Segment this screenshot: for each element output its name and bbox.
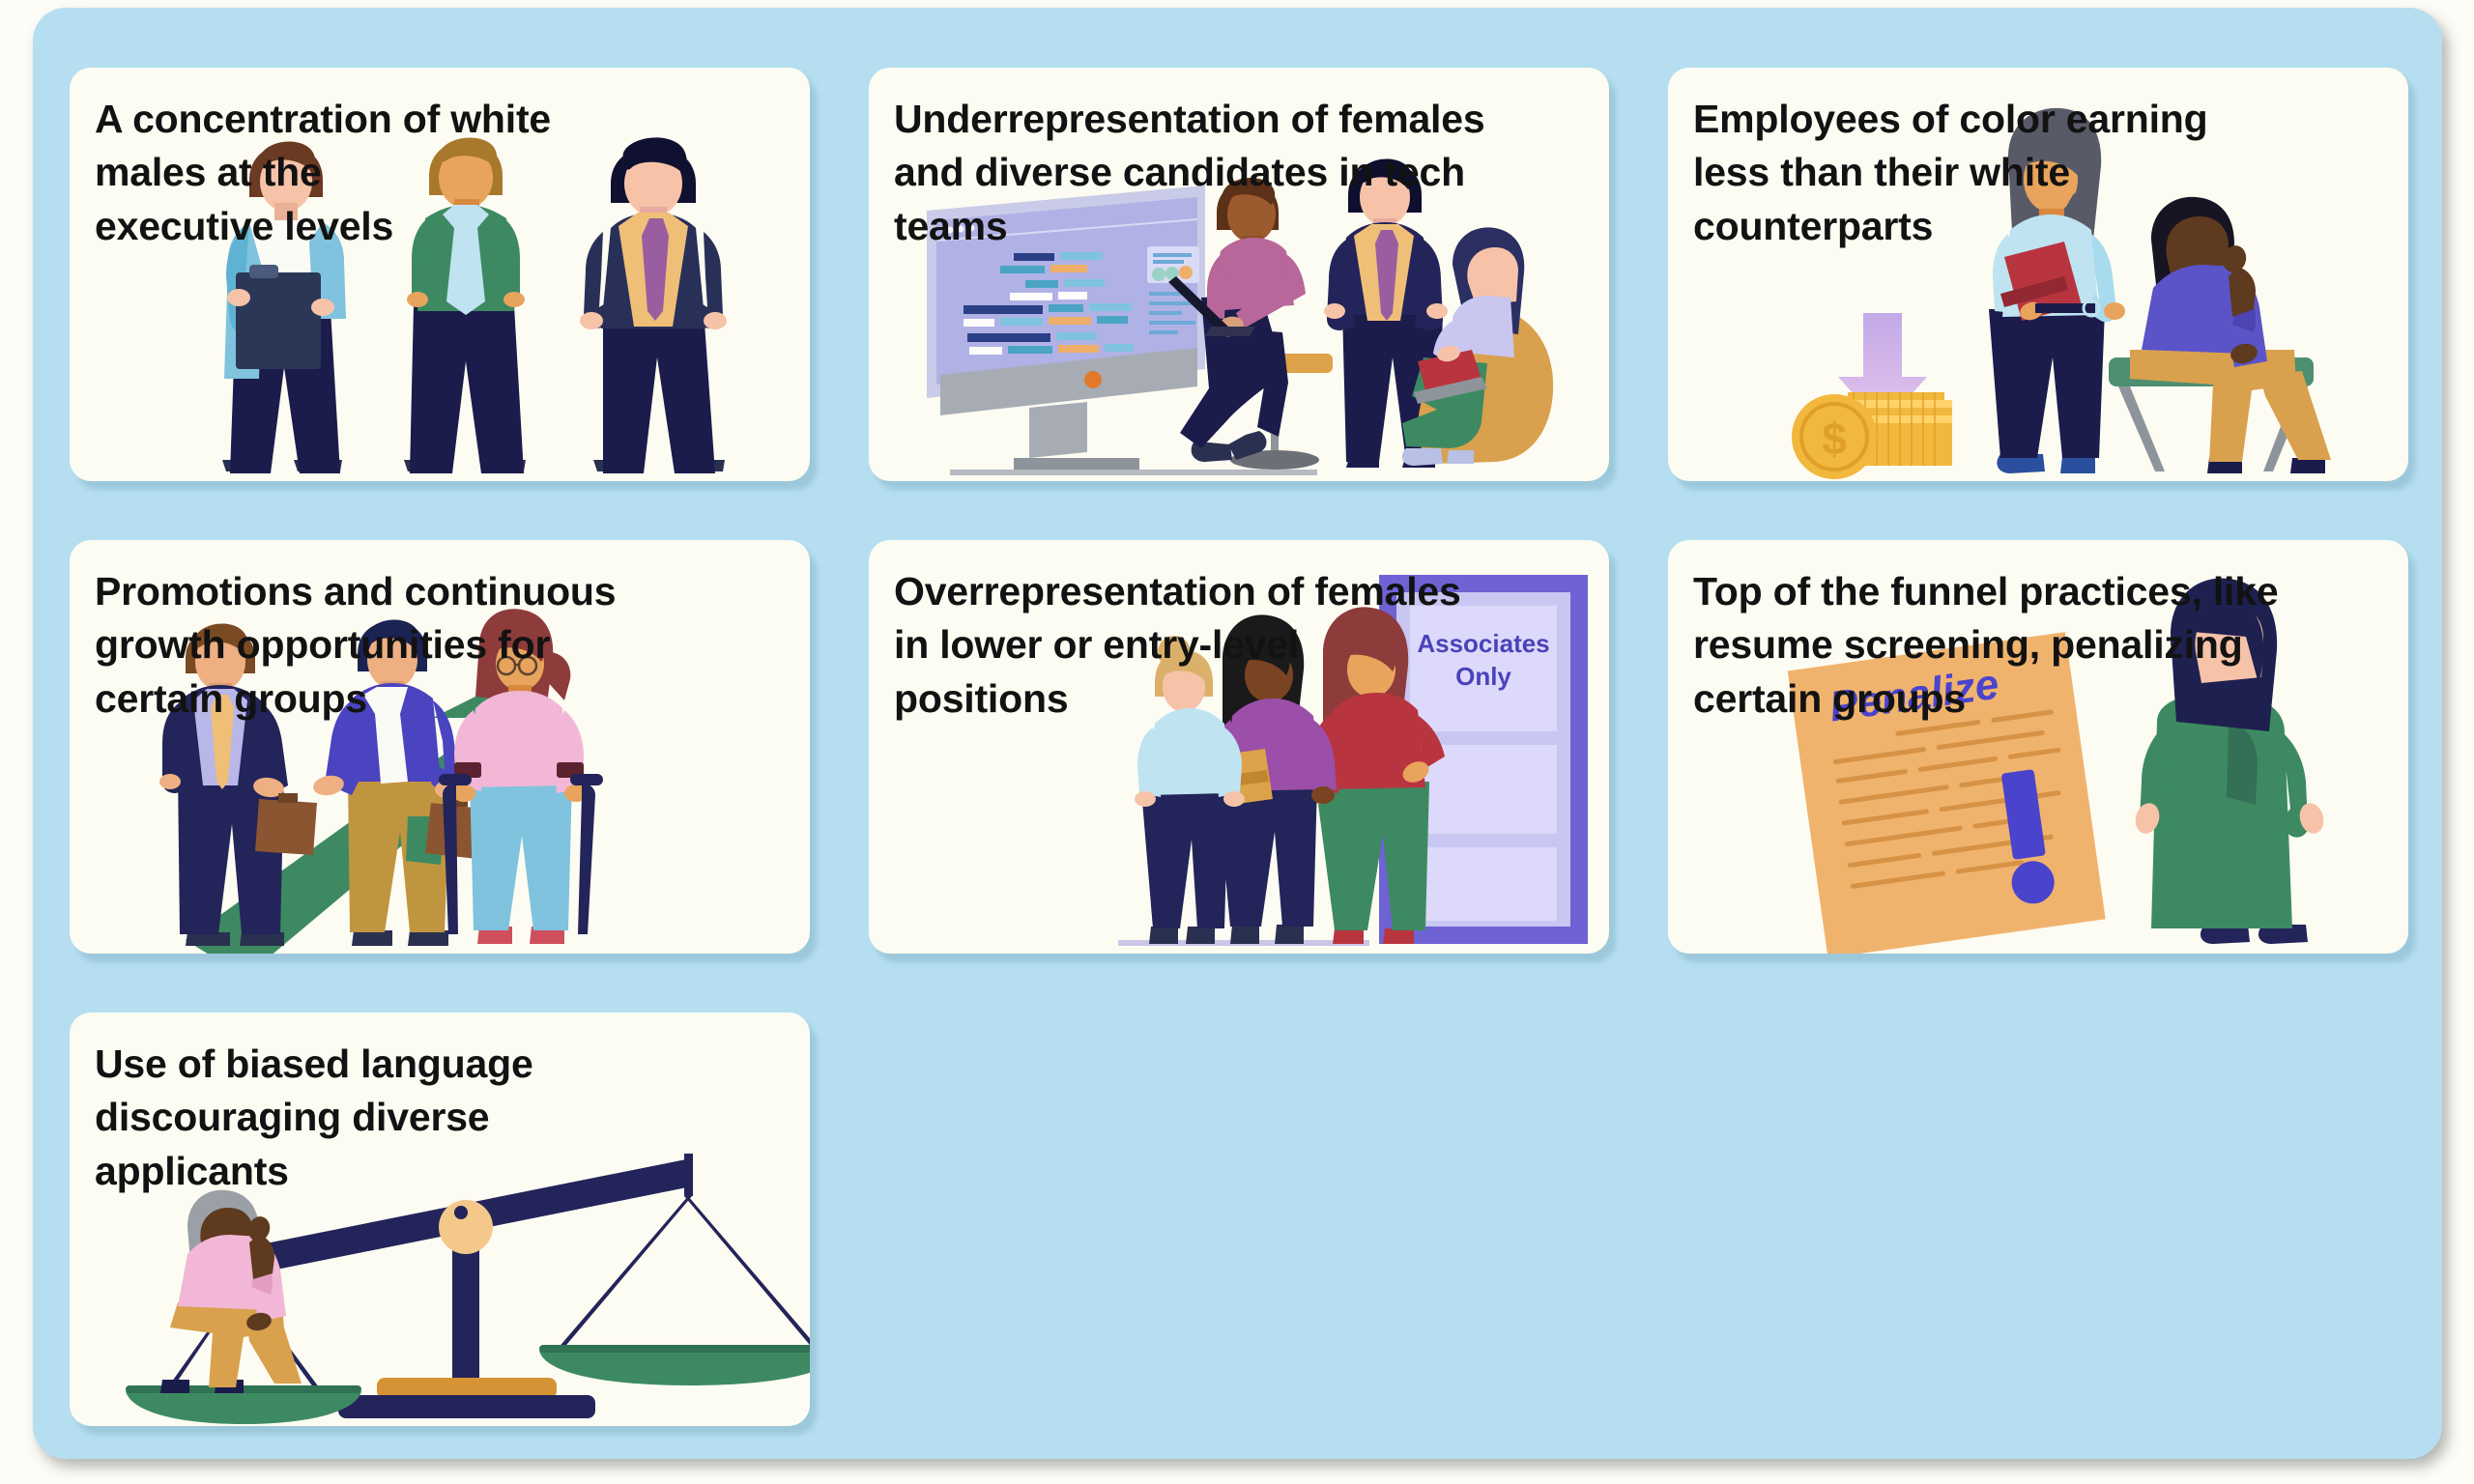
empty-slot [869,1013,1609,1426]
pay-gap-coins-illustration: $ [1668,68,2408,481]
three-businessmen-illustration [70,68,810,481]
card-grid: A concentration of white males at the ex… [70,68,2408,1420]
card-underrepresentation-tech-teams[interactable]: Underrepresentation of females and diver… [869,68,1609,481]
card-employees-of-color-pay-gap[interactable]: Employees of color earning less than the… [1668,68,2408,481]
handshake-growth-arrow-illustration [70,540,810,954]
associates-only-line1: Associates [1417,629,1549,658]
tech-team-monitor-illustration [869,68,1609,481]
associates-only-line2: Only [1455,662,1511,691]
dollar-symbol: $ [1822,414,1847,464]
card-overrepresentation-entry-level[interactable]: Overrepresentation of females in lower o… [869,540,1609,954]
card-promotions-growth-certain-groups[interactable]: Promotions and continuous growth opportu… [70,540,810,954]
blue-background-panel: A concentration of white males at the ex… [33,8,2442,1459]
penalize-resume-illustration: Penalize [1668,540,2408,954]
card-funnel-resume-screening[interactable]: Top of the funnel practices, like resume… [1668,540,2408,954]
card-biased-language[interactable]: Use of biased language discouraging dive… [70,1013,810,1426]
unbalanced-scale-illustration [70,1013,810,1426]
associates-only-door-illustration: Associates Only [869,540,1609,954]
empty-slot [1668,1013,2408,1426]
card-concentration-white-males[interactable]: A concentration of white males at the ex… [70,68,810,481]
